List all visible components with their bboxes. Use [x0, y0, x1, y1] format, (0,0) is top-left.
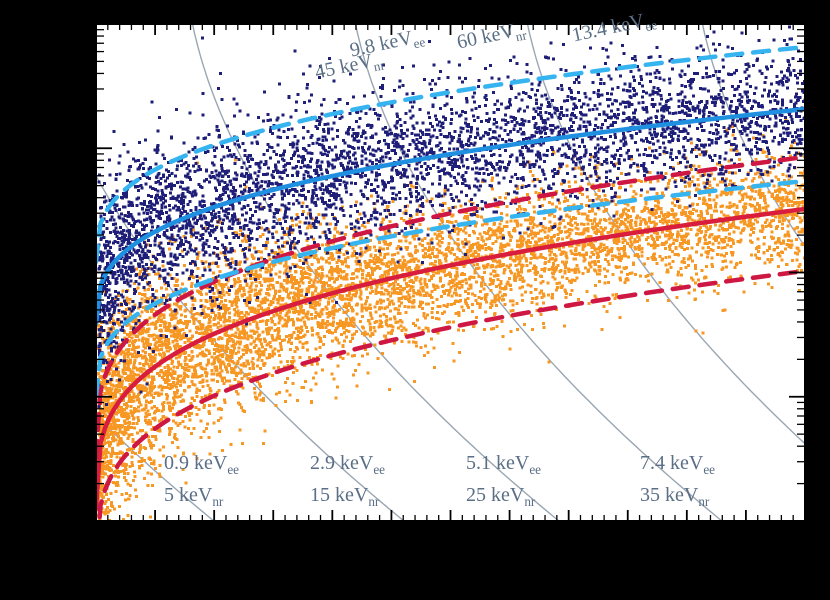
contour-label-nr-c-25: 25 keVnr [466, 484, 535, 510]
contour-label-nr-c-35: 35 keVnr [640, 484, 709, 510]
contour-label-ee-c-15: 2.9 keVee [310, 452, 385, 478]
contour-label-nr-c-5: 5 keVnr [164, 484, 223, 510]
contour-label-ee-c-5: 0.9 keVee [164, 452, 239, 478]
contour-label-ee-c-25: 5.1 keVee [466, 452, 541, 478]
plot-area [96, 24, 805, 521]
contour-label-nr-c-15: 15 keVnr [310, 484, 379, 510]
plot-canvas [96, 24, 805, 521]
contour-label-ee-c-35: 7.4 keVee [640, 452, 715, 478]
figure-root: 0.9 keVee5 keVnr2.9 keVee15 keVnr5.1 keV… [0, 0, 830, 600]
